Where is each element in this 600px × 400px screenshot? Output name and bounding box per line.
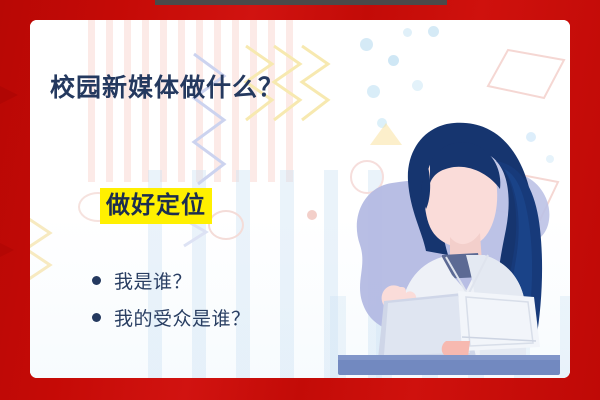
dot-decoration	[388, 55, 399, 66]
zigzag-decoration-yellow	[298, 42, 334, 128]
page-title: 校园新媒体做什么？	[50, 68, 284, 104]
list-item-label: 我的受众是谁？	[114, 304, 251, 331]
dot-decoration	[307, 210, 317, 220]
woman-at-laptop-illustration	[330, 105, 570, 378]
slide-screenshot: 校园新媒体做什么？ 做好定位 我是谁？ 我的受众是谁？	[0, 0, 600, 400]
bullet-dot-icon	[92, 276, 101, 285]
dot-decoration	[412, 80, 423, 91]
subtitle-highlight-wrapper: 做好定位	[100, 188, 212, 224]
list-item: 我的受众是谁？	[92, 299, 251, 336]
dot-decoration	[403, 28, 412, 37]
zigzag-decoration-yellow-lower	[30, 215, 64, 287]
dot-decoration	[367, 85, 380, 98]
bullet-list: 我是谁？ 我的受众是谁？	[92, 262, 251, 336]
list-item: 我是谁？	[92, 262, 251, 299]
quadrilateral-outline-decoration	[482, 44, 568, 104]
slide-card: 校园新媒体做什么？ 做好定位 我是谁？ 我的受众是谁？	[30, 20, 570, 378]
list-item-label: 我是谁？	[114, 267, 192, 294]
top-dark-bar	[155, 0, 447, 5]
dot-decoration	[360, 38, 373, 51]
bullet-dot-icon	[92, 313, 101, 322]
subtitle-highlight: 做好定位	[100, 188, 212, 224]
dot-decoration	[428, 26, 439, 37]
